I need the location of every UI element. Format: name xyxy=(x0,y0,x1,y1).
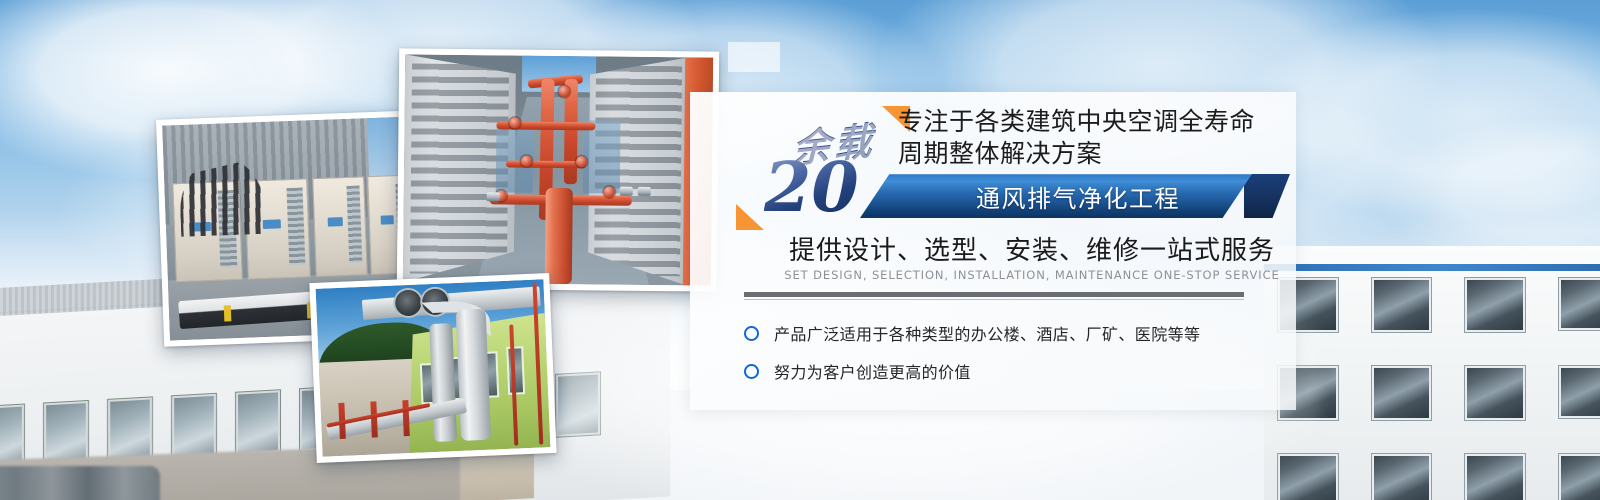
list-item-label: 产品广泛适用于各种类型的办公楼、酒店、厂矿、医院等等 xyxy=(774,321,1200,345)
divider xyxy=(744,292,1244,300)
headline: 专注于各类建筑中央空调全寿命 周期整体解决方案 xyxy=(898,106,1290,170)
window-grid xyxy=(1278,278,1600,500)
hvac-promo-banner: 余载 20 专注于各类建筑中央空调全寿命 周期整体解决方案 通风排气净化工程 提… xyxy=(0,0,1600,500)
headline-line-1: 专注于各类建筑中央空调全寿命 xyxy=(898,106,1290,138)
decor-square xyxy=(728,42,780,72)
services-line-english: SET DESIGN, SELECTION, INSTALLATION, MAI… xyxy=(772,268,1292,282)
blue-roof-trim xyxy=(1264,264,1600,271)
list-item: 产品广泛适用于各种类型的办公楼、酒店、厂矿、医院等等 xyxy=(744,314,1284,352)
bullet-ring-icon xyxy=(744,326,759,341)
years-number: 20 xyxy=(764,154,859,222)
list-item-label: 努力为客户创造更高的价值 xyxy=(774,359,971,383)
bullet-list: 产品广泛适用于各种类型的办公楼、酒店、厂矿、医院等等 努力为客户创造更高的价值 xyxy=(744,314,1284,390)
ribbon-label: 通风排气净化工程 xyxy=(860,174,1290,218)
photo-chiller-piping xyxy=(397,48,719,291)
info-panel: 余载 20 专注于各类建筑中央空调全寿命 周期整体解决方案 通风排气净化工程 提… xyxy=(690,92,1296,410)
parked-cars xyxy=(0,466,160,500)
bullet-ring-icon xyxy=(744,364,759,379)
list-item: 努力为客户创造更高的价值 xyxy=(744,352,1284,390)
services-line: 提供设计、选型、安装、维修一站式服务 xyxy=(772,230,1292,267)
ribbon-banner: 通风排气净化工程 xyxy=(860,174,1290,218)
photo-rooftop-duct xyxy=(309,273,556,463)
corner-bracket-bottom-left-icon xyxy=(736,204,764,230)
headline-line-2: 周期整体解决方案 xyxy=(898,138,1290,170)
